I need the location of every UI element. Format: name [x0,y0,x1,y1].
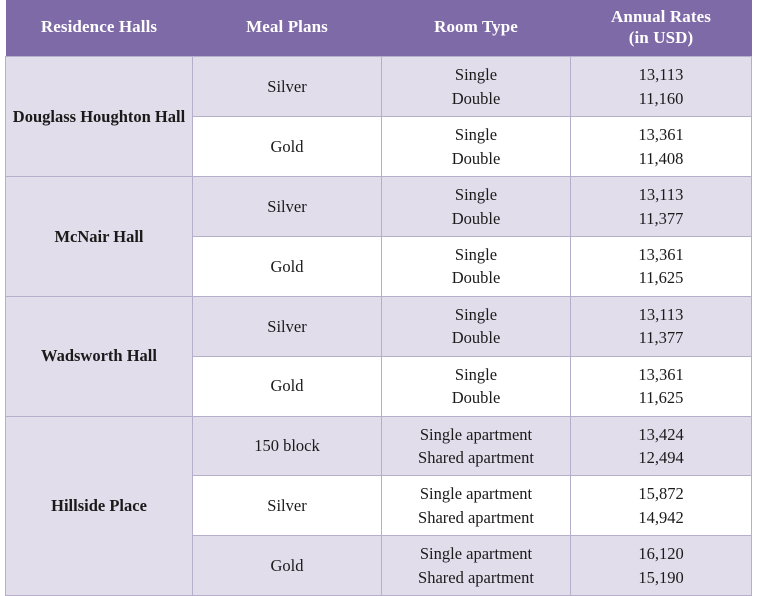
annual-rate-line: 13,361 [575,123,747,146]
room-type-line: Single [386,303,566,326]
meal-plan-cell: 150 block [193,416,382,476]
room-type-line: Single [386,123,566,146]
room-type-cell: SingleDouble [382,356,571,416]
annual-rate-line: 13,113 [575,303,747,326]
annual-rate-line: 16,120 [575,542,747,565]
annual-rate-line: 11,408 [575,147,747,170]
table-header: Residence Halls Meal Plans Room Type Ann… [6,0,752,57]
room-type-line: Shared apartment [386,446,566,469]
table-row: Douglass Houghton HallSilverSingleDouble… [6,57,752,117]
room-type-cell: SingleDouble [382,237,571,297]
room-type-cell: Single apartmentShared apartment [382,476,571,536]
meal-plan-cell: Gold [193,356,382,416]
annual-rate-line: 15,872 [575,482,747,505]
column-header-residence-halls-label: Residence Halls [41,17,157,36]
column-header-meal-plans-label: Meal Plans [246,17,328,36]
annual-rate-line: 12,494 [575,446,747,469]
meal-plan-cell: Gold [193,536,382,596]
column-header-room-type-label: Room Type [434,17,518,36]
meal-plan-cell: Silver [193,296,382,356]
room-type-cell: Single apartmentShared apartment [382,416,571,476]
room-type-cell: SingleDouble [382,117,571,177]
room-type-line: Double [386,147,566,170]
residence-hall-name: Hillside Place [6,416,193,596]
room-type-line: Single [386,243,566,266]
annual-rate-cell: 13,36111,408 [571,117,752,177]
room-type-line: Single apartment [386,542,566,565]
annual-rate-line: 13,361 [575,243,747,266]
annual-rate-cell: 13,11311,160 [571,57,752,117]
annual-rate-line: 11,625 [575,386,747,409]
column-header-annual-rates-unit: (in USD) [575,28,748,49]
room-type-line: Double [386,87,566,110]
column-header-meal-plans: Meal Plans [193,0,382,57]
annual-rate-line: 13,113 [575,63,747,86]
annual-rate-cell: 13,36111,625 [571,237,752,297]
annual-rate-cell: 15,87214,942 [571,476,752,536]
room-type-line: Single [386,363,566,386]
annual-rate-line: 15,190 [575,566,747,589]
annual-rate-line: 11,160 [575,87,747,110]
header-row: Residence Halls Meal Plans Room Type Ann… [6,0,752,57]
room-type-line: Shared apartment [386,566,566,589]
annual-rate-cell: 13,11311,377 [571,177,752,237]
column-header-annual-rates-label: Annual Rates [611,7,711,26]
residence-hall-name: Wadsworth Hall [6,296,193,416]
residence-hall-name: Douglass Houghton Hall [6,57,193,177]
column-header-residence-halls: Residence Halls [6,0,193,57]
meal-plan-cell: Silver [193,476,382,536]
room-type-line: Single apartment [386,423,566,446]
meal-plan-cell: Gold [193,237,382,297]
room-type-line: Single apartment [386,482,566,505]
annual-rate-line: 11,625 [575,266,747,289]
annual-rate-line: 11,377 [575,326,747,349]
table-row: Wadsworth HallSilverSingleDouble13,11311… [6,296,752,356]
annual-rate-line: 13,113 [575,183,747,206]
annual-rate-line: 11,377 [575,207,747,230]
annual-rate-cell: 13,36111,625 [571,356,752,416]
residence-hall-rates-table: Residence Halls Meal Plans Room Type Ann… [5,0,752,596]
room-type-cell: SingleDouble [382,177,571,237]
annual-rate-cell: 16,12015,190 [571,536,752,596]
room-type-line: Double [386,207,566,230]
room-type-line: Double [386,386,566,409]
room-type-line: Double [386,266,566,289]
table-body: Douglass Houghton HallSilverSingleDouble… [6,57,752,596]
annual-rate-line: 13,361 [575,363,747,386]
annual-rate-cell: 13,42412,494 [571,416,752,476]
annual-rate-cell: 13,11311,377 [571,296,752,356]
room-type-cell: SingleDouble [382,57,571,117]
meal-plan-cell: Silver [193,177,382,237]
room-type-cell: Single apartmentShared apartment [382,536,571,596]
room-type-cell: SingleDouble [382,296,571,356]
column-header-annual-rates: Annual Rates (in USD) [571,0,752,57]
residence-hall-name: McNair Hall [6,177,193,297]
table-row: McNair HallSilverSingleDouble13,11311,37… [6,177,752,237]
room-type-line: Single [386,63,566,86]
meal-plan-cell: Silver [193,57,382,117]
meal-plan-cell: Gold [193,117,382,177]
room-type-line: Single [386,183,566,206]
annual-rate-line: 13,424 [575,423,747,446]
table-row: Hillside Place150 blockSingle apartmentS… [6,416,752,476]
room-type-line: Double [386,326,566,349]
column-header-room-type: Room Type [382,0,571,57]
